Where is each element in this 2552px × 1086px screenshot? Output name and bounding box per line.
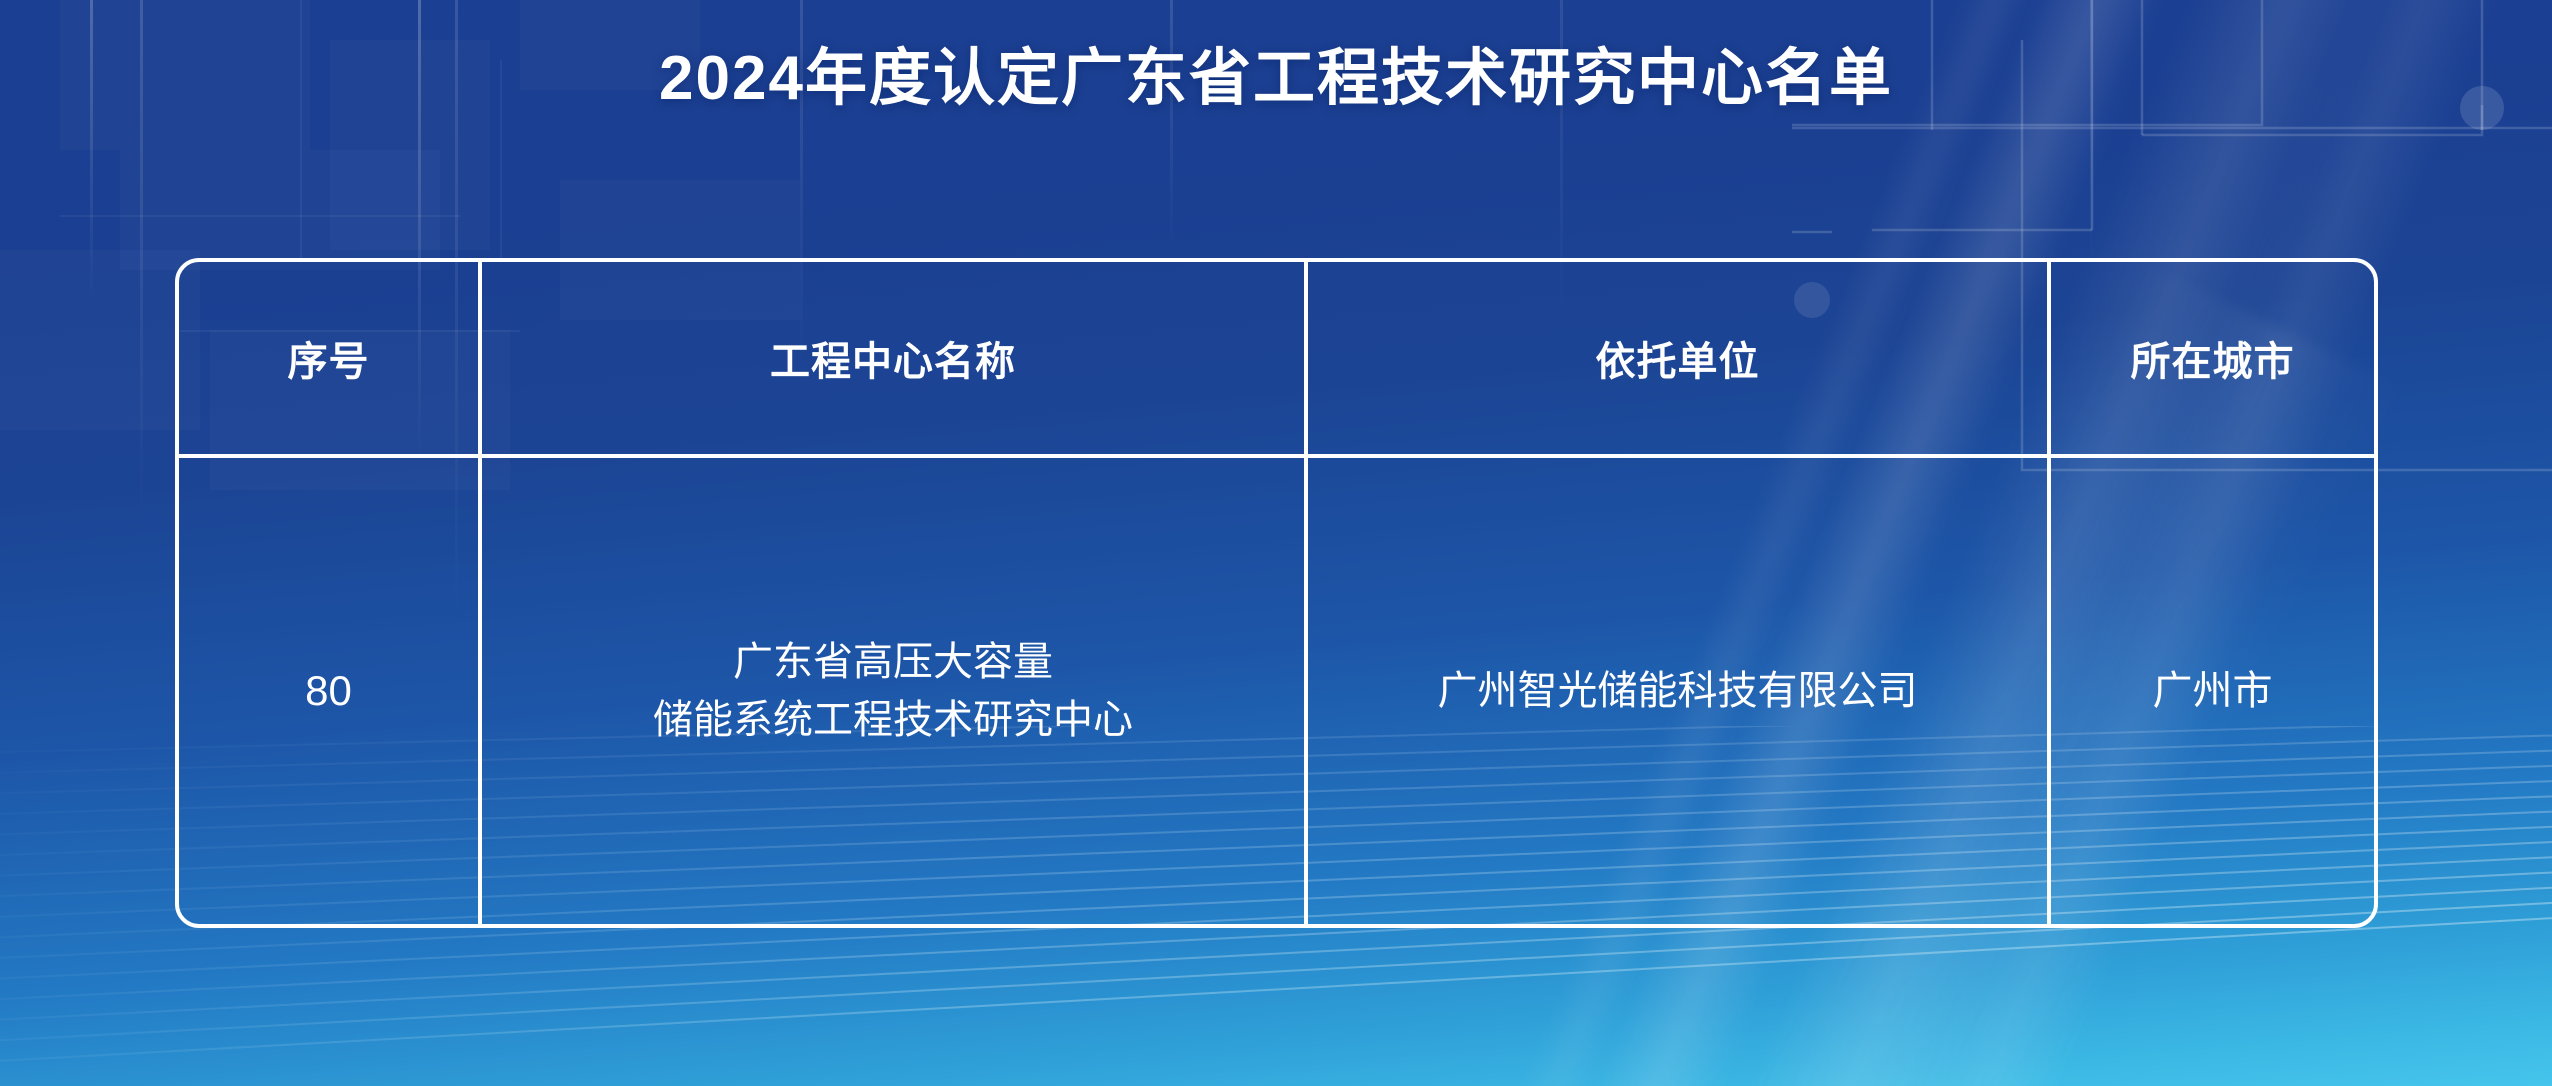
cell-index: 80 xyxy=(179,458,478,924)
column-header-city: 所在城市 xyxy=(2047,262,2374,454)
cell-center-name: 广东省高压大容量 储能系统工程技术研究中心 xyxy=(478,458,1304,924)
column-header-center-name: 工程中心名称 xyxy=(478,262,1304,454)
column-header-index: 序号 xyxy=(179,262,478,454)
page-title: 2024年度认定广东省工程技术研究中心名单 xyxy=(0,42,2552,116)
cell-city: 广州市 xyxy=(2047,458,2374,924)
table-header-row: 序号 工程中心名称 依托单位 所在城市 xyxy=(179,262,2374,458)
column-header-host-unit: 依托单位 xyxy=(1304,262,2047,454)
poster-banner: 2024年度认定广东省工程技术研究中心名单 序号 工程中心名称 依托单位 所在城… xyxy=(0,0,2552,1086)
cell-host-unit: 广州智光储能科技有限公司 xyxy=(1304,458,2047,924)
center-list-table: 序号 工程中心名称 依托单位 所在城市 80 广东省高压大容量 储能系统工程技术… xyxy=(175,258,2378,928)
table-row: 80 广东省高压大容量 储能系统工程技术研究中心 广州智光储能科技有限公司 广州… xyxy=(179,458,2374,924)
